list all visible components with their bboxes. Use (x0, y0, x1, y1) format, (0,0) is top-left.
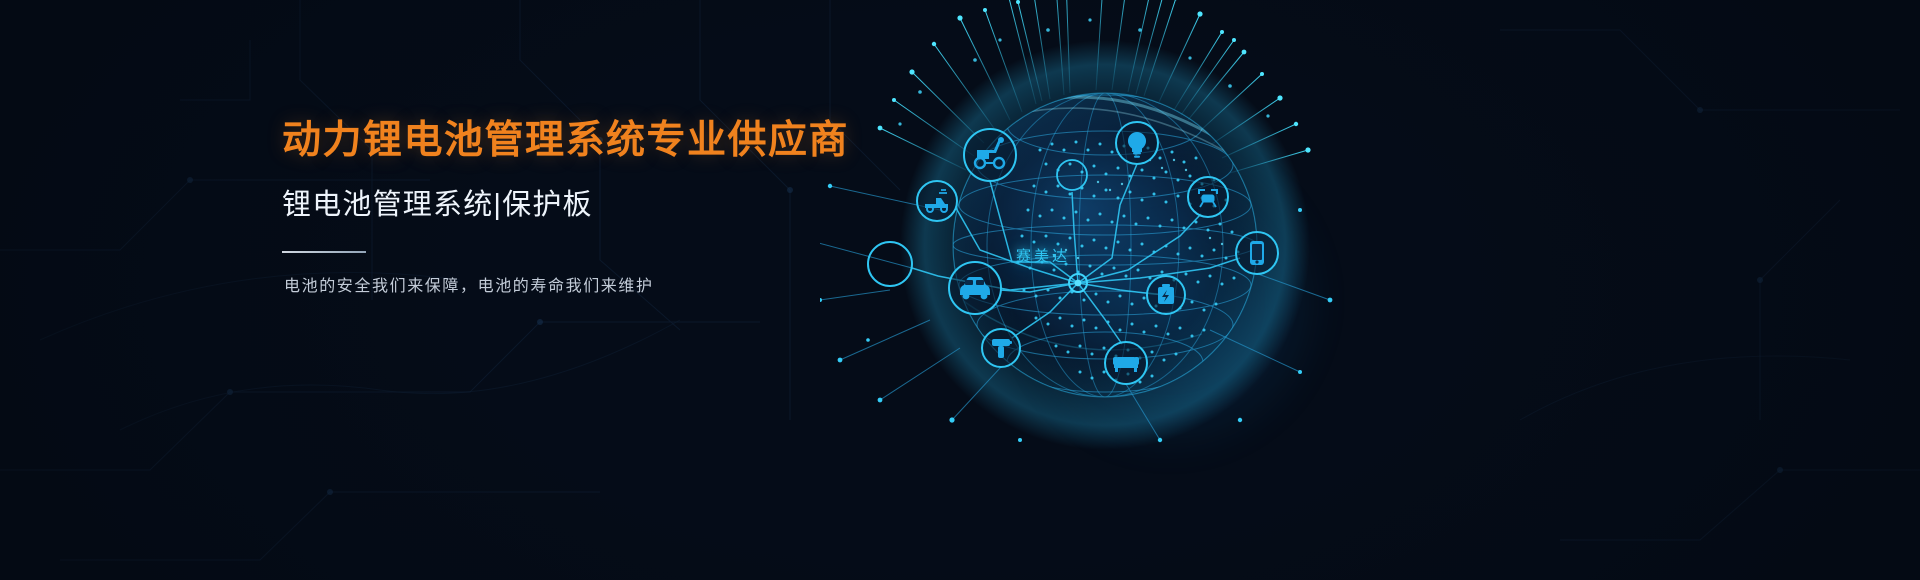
node-scooter[interactable] (964, 129, 1016, 181)
hero-banner: 赛美达 动力锂电池管理系统专业供应商 锂电池管理系统|保护板 电池的安全我们来保… (0, 0, 1920, 580)
banner-tagline: 电池的安全我们来保障，电池的寿命我们来维护 (284, 275, 902, 299)
banner-copy: 动力锂电池管理系统专业供应商 锂电池管理系统|保护板 电池的安全我们来保障，电池… (282, 118, 902, 299)
node-sofa[interactable] (1105, 342, 1147, 384)
node-tool[interactable] (982, 329, 1020, 367)
node-lightbulb[interactable] (1116, 122, 1158, 164)
node-truck[interactable] (917, 181, 957, 221)
brand-center-label: 赛美达 (1016, 245, 1070, 266)
banner-headline: 动力锂电池管理系统专业供应商 (282, 118, 902, 164)
node-battery[interactable] (1147, 276, 1185, 314)
banner-subhead: 锂电池管理系统|保护板 (282, 188, 902, 223)
node-drone[interactable] (1188, 177, 1228, 217)
node-phone[interactable] (1236, 232, 1278, 274)
divider-line (282, 251, 366, 253)
node-car[interactable] (949, 262, 1001, 314)
globe-network-illustration (820, 0, 1520, 580)
